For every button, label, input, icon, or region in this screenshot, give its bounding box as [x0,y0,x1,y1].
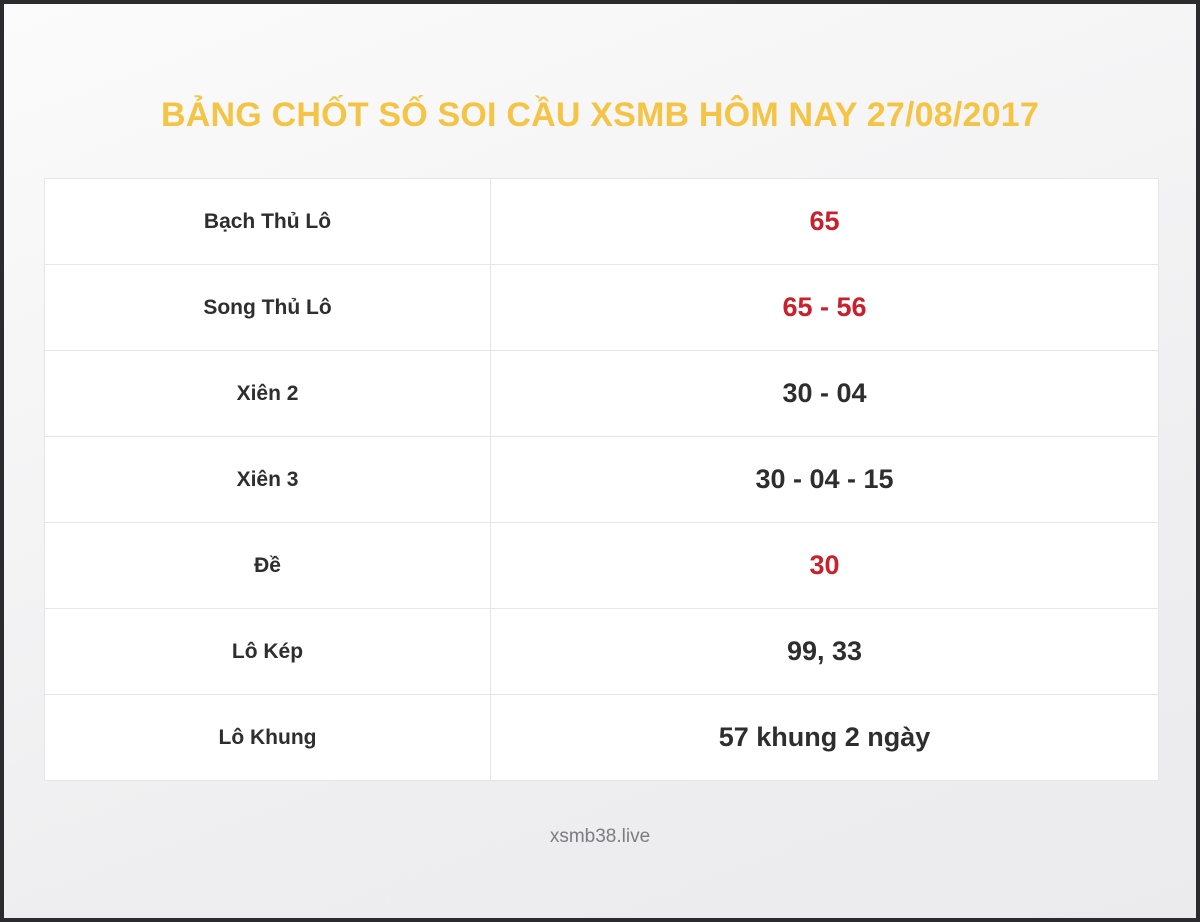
row-label: Đề [45,523,491,609]
prediction-table-wrapper: Bạch Thủ Lô 65 Song Thủ Lô 65 - 56 Xiên … [44,178,1158,781]
table-row: Lô Kép 99, 33 [45,609,1159,695]
row-label: Lô Kép [45,609,491,695]
row-value: 57 khung 2 ngày [491,695,1159,781]
row-value: 30 - 04 - 15 [491,437,1159,523]
row-label: Xiên 2 [45,351,491,437]
prediction-table-body: Bạch Thủ Lô 65 Song Thủ Lô 65 - 56 Xiên … [45,179,1159,781]
row-label: Song Thủ Lô [45,265,491,351]
table-row: Bạch Thủ Lô 65 [45,179,1159,265]
page-container: BẢNG CHỐT SỐ SOI CẦU XSMB HÔM NAY 27/08/… [4,4,1196,918]
row-value: 30 - 04 [491,351,1159,437]
row-value: 30 [491,523,1159,609]
table-row: Lô Khung 57 khung 2 ngày [45,695,1159,781]
row-value: 65 - 56 [491,265,1159,351]
row-value: 65 [491,179,1159,265]
site-watermark: xsmb38.live [4,826,1196,848]
row-label: Lô Khung [45,695,491,781]
row-label: Bạch Thủ Lô [45,179,491,265]
table-row: Xiên 3 30 - 04 - 15 [45,437,1159,523]
page-title: BẢNG CHỐT SỐ SOI CẦU XSMB HÔM NAY 27/08/… [4,96,1196,135]
table-row: Xiên 2 30 - 04 [45,351,1159,437]
table-row: Đề 30 [45,523,1159,609]
prediction-table: Bạch Thủ Lô 65 Song Thủ Lô 65 - 56 Xiên … [44,178,1159,781]
table-row: Song Thủ Lô 65 - 56 [45,265,1159,351]
row-value: 99, 33 [491,609,1159,695]
row-label: Xiên 3 [45,437,491,523]
